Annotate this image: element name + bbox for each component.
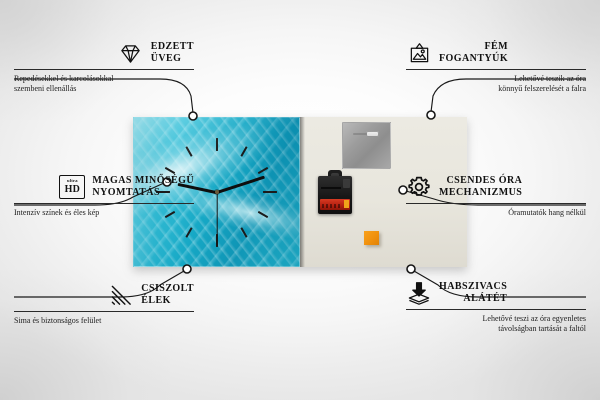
hanger-slot-groove <box>353 133 367 135</box>
battery-label-stripe-2 <box>326 204 328 208</box>
ultra-hd-badge-icon: ultra HD <box>59 174 85 200</box>
callout-title: CSENDES ÓRA MECHANIZMUS <box>439 175 522 199</box>
callout-silent-mechanism: CSENDES ÓRA MECHANIZMUS Óramutatók hang … <box>406 174 586 218</box>
metal-hanger-plate <box>342 122 391 169</box>
callout-divider <box>406 69 586 70</box>
callout-subtitle: Repedésekkel és karcolásokkal szembeni e… <box>14 74 194 94</box>
callout-title: FÉM FOGANTYÚK <box>439 41 508 65</box>
callout-title: EDZETT ÜVEG <box>151 41 194 65</box>
callout-subtitle: Óramutatók hang nélkül <box>406 208 586 218</box>
callout-polished-edges: CSISZOLT ÉLEK Sima és biztonságos felüle… <box>14 282 194 326</box>
callout-header: CSISZOLT ÉLEK <box>14 282 194 308</box>
callout-foam-pad: HABSZIVACS ALÁTÉT Lehetővé teszi az óra … <box>406 280 586 334</box>
battery-label-stripe-5 <box>338 204 340 208</box>
foam-spacer-pad <box>364 231 379 245</box>
callout-divider <box>406 203 586 204</box>
callout-divider <box>14 203 194 204</box>
battery-label-stripe-3 <box>330 204 332 208</box>
arrow-onto-pad-icon <box>406 280 432 306</box>
callout-metal-handles: FÉM FOGANTYÚK Lehetővé teszik az óra kön… <box>406 40 586 94</box>
callout-header: ultra HD MAGAS MINŐSÉGŰ NYOMTATÁS <box>14 174 194 200</box>
callout-high-quality-print: ultra HD MAGAS MINŐSÉGŰ NYOMTATÁS Intenz… <box>14 174 194 218</box>
mechanism-side-notch <box>343 179 350 188</box>
callout-header: EDZETT ÜVEG <box>14 40 194 66</box>
callout-title: HABSZIVACS ALÁTÉT <box>439 281 507 305</box>
battery-label-stripe-4 <box>334 204 336 208</box>
infographic-canvas: EDZETT ÜVEG Repedésekkel és karcolásokka… <box>0 0 600 400</box>
gear-icon <box>406 174 432 200</box>
callout-header: CSENDES ÓRA MECHANIZMUS <box>406 174 586 200</box>
picture-frame-icon <box>406 40 432 66</box>
mechanism-panel-seam <box>321 187 341 189</box>
callout-subtitle: Intenzív színek és éles kép <box>14 208 194 218</box>
callout-subtitle: Sima és biztonságos felület <box>14 316 194 326</box>
battery-label-stripe-1 <box>322 204 324 208</box>
callout-subtitle: Lehetővé teszik az óra könnyű felszerelé… <box>406 74 586 94</box>
callout-tempered-glass: EDZETT ÜVEG Repedésekkel és karcolásokka… <box>14 40 194 94</box>
hatch-lines-icon <box>108 282 134 308</box>
battery-plus-terminal <box>344 200 349 208</box>
callout-subtitle: Lehetővé teszi az óra egyenletes távolsá… <box>406 314 586 334</box>
callout-divider <box>406 309 586 310</box>
callout-header: HABSZIVACS ALÁTÉT <box>406 280 586 306</box>
hanger-slot-hole <box>366 131 379 137</box>
callout-header: FÉM FOGANTYÚK <box>406 40 586 66</box>
callout-divider <box>14 69 194 70</box>
callout-divider <box>14 311 194 312</box>
callout-title: CSISZOLT ÉLEK <box>141 283 194 307</box>
ultra-hd-badge-large-text: HD <box>65 185 81 195</box>
diamond-gem-icon <box>118 40 144 66</box>
callout-title: MAGAS MINŐSÉGŰ NYOMTATÁS <box>92 175 194 199</box>
